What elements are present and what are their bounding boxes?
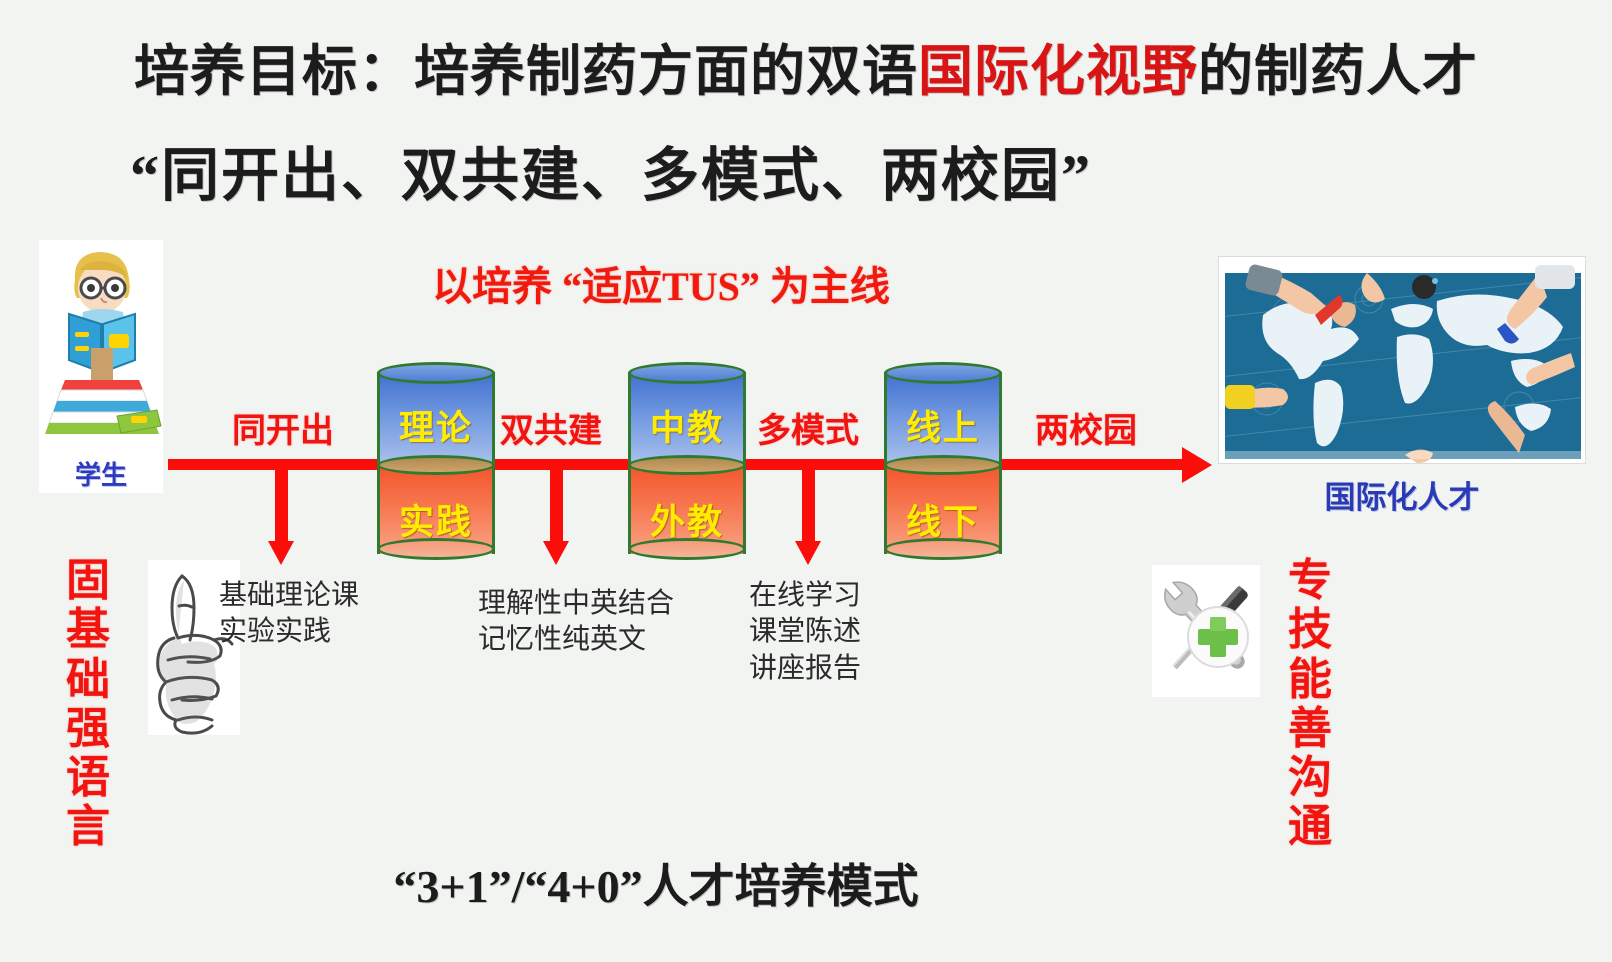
slogan-right: 专技能善沟通 — [1282, 556, 1338, 852]
down-arrow-2 — [543, 465, 569, 565]
cylinder-online-offline: 线上 线下 — [884, 362, 1002, 560]
page-title-prefix: 培养目标：培养制药方面的双语 — [134, 41, 918, 102]
cylinder-top-label: 理论 — [377, 400, 495, 451]
slogan-left: 固基础强语言 — [60, 556, 116, 852]
cylinder-top-cap — [884, 362, 1002, 384]
cylinder-middle-band — [884, 455, 1002, 475]
page-subtitle: “同开出、双共建、多模式、两校园” — [0, 128, 1612, 212]
international-talent-figure — [1218, 256, 1586, 464]
down-arrow-1 — [268, 465, 294, 565]
international-talent-label: 国际化人才 — [1218, 472, 1586, 517]
cylinder-top-label: 线上 — [884, 400, 1002, 451]
slogan-left-text: 固基础强语言 — [60, 556, 116, 852]
student-reading-book-icon — [39, 240, 163, 450]
page-title-highlight: 国际化视野 — [918, 41, 1198, 102]
world-map-hands-icon — [1219, 257, 1586, 464]
cylinder-top-cap — [628, 362, 746, 384]
cylinder-bottom-label: 外教 — [628, 494, 746, 545]
down-arrow-3 — [795, 465, 821, 565]
tools-figure — [1152, 565, 1260, 697]
note-3: 在线学习 课堂陈述 讲座报告 — [749, 578, 861, 687]
cylinder-middle-band — [377, 455, 495, 475]
slogan-right-text: 专技能善沟通 — [1282, 556, 1338, 852]
cylinder-bottom-label: 线下 — [884, 494, 1002, 545]
cylinder-middle-band — [628, 455, 746, 475]
cylinder-top-label: 中教 — [628, 400, 746, 451]
cylinder-bottom-label: 实践 — [377, 494, 495, 545]
cylinder-chinese-foreign-teacher: 中教 外教 — [628, 362, 746, 560]
slide-canvas: 培养目标：培养制药方面的双语国际化视野的制药人才 “同开出、双共建、多模式、两校… — [0, 0, 1612, 962]
cylinder-theory-practice: 理论 实践 — [377, 362, 495, 560]
page-title: 培养目标：培养制药方面的双语国际化视野的制药人才 — [0, 26, 1612, 106]
note-2: 理解性中英结合 记忆性纯英文 — [478, 586, 674, 659]
stage-label-4: 两校园 — [1035, 403, 1137, 452]
cylinder-top-cap — [377, 362, 495, 384]
stage-label-3: 多模式 — [757, 403, 859, 452]
note-1: 基础理论课 实验实践 — [219, 578, 359, 651]
stage-label-1: 同开出 — [232, 403, 334, 452]
process-axis-arrowhead — [1182, 447, 1212, 483]
student-label: 学生 — [39, 455, 163, 492]
bottom-caption: “3+1”/“4+0”人才培养模式 — [0, 850, 1612, 916]
tools-wrench-screwdriver-plus-icon — [1152, 565, 1260, 697]
page-title-suffix: 的制药人才 — [1198, 41, 1478, 102]
stage-label-2: 双共建 — [500, 403, 602, 452]
